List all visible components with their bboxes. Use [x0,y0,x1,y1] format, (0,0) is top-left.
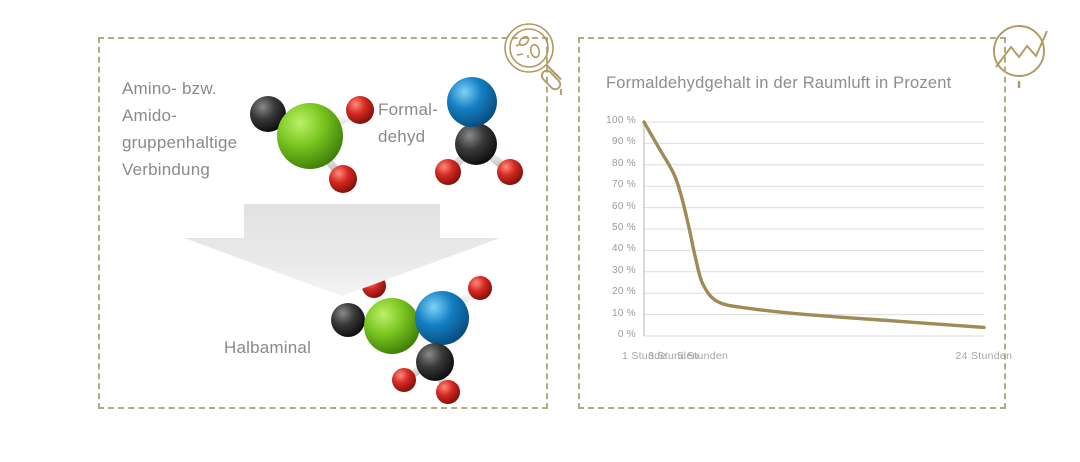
atom-carbon [455,123,497,165]
y-tick-label: 10 % [598,308,636,319]
y-tick-label: 40 % [598,243,636,254]
chart-figure: 100 %90 %80 %70 %60 %50 %40 %30 %20 %10 … [598,118,990,380]
atom-carbon [331,303,365,337]
atom-carbon [416,343,454,381]
line-chart [598,118,990,380]
atom-nitrogen-group [364,298,420,354]
y-tick-label: 100 % [598,115,636,126]
y-tick-label: 90 % [598,136,636,147]
product-label: Halbaminal [224,338,311,358]
atom-oxygen [346,96,374,124]
atom-oxygen [436,380,460,404]
molecule-amino-compound [238,82,388,198]
y-tick-label: 60 % [598,201,636,212]
y-tick-label: 0 % [598,329,636,340]
y-tick-label: 70 % [598,179,636,190]
atom-nitrogen [447,77,497,127]
y-tick-label: 20 % [598,286,636,297]
chart-title: Formaldehydgehalt in der Raumluft in Pro… [606,74,951,93]
atom-oxygen [329,165,357,193]
reaction-arrow-icon [182,202,502,298]
y-tick-label: 80 % [598,158,636,169]
y-tick-label: 50 % [598,222,636,233]
magnifier-molecule-icon [498,20,574,96]
atom-oxygen [392,368,416,392]
atom-nitrogen-group [277,103,343,169]
x-tick-label: 5 Stunden [678,350,729,362]
atom-nitrogen [415,291,469,345]
atom-oxygen [435,159,461,185]
x-tick-label: 24 Stunden [956,350,1013,362]
y-tick-label: 30 % [598,265,636,276]
atom-oxygen [497,159,523,185]
data-series-line [644,122,984,327]
